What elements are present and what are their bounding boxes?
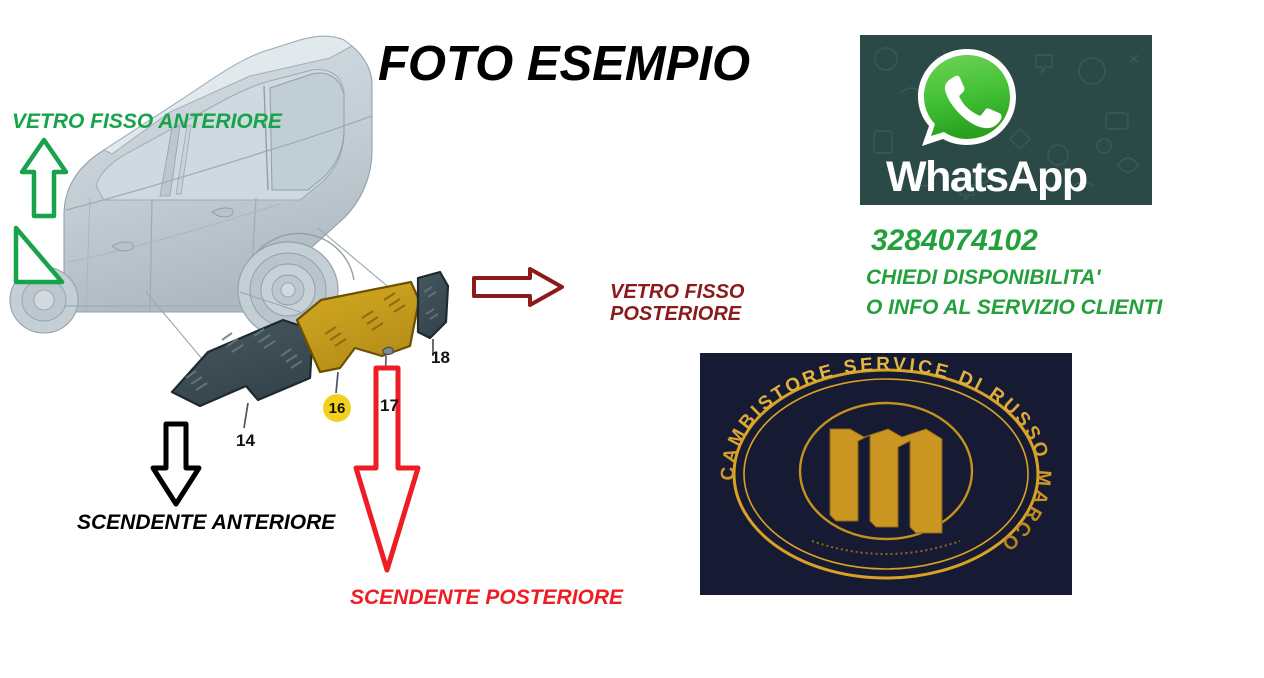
down-arrow-black-icon <box>153 424 199 504</box>
screenshot-canvas: 14 17 18 16 FOTO ESEMPIO VETRO FISSO ANT… <box>0 0 1264 678</box>
whatsapp-phone-number[interactable]: 3284074102 <box>871 224 1038 258</box>
label-scendente-posteriore: SCENDENTE POSTERIORE <box>350 586 623 610</box>
label-vetro-fisso-posteriore-line1: VETRO FISSO <box>610 281 744 303</box>
contact-line-2: O INFO AL SERVIZIO CLIENTI <box>866 296 1162 320</box>
part-number-14: 14 <box>236 431 255 451</box>
part-number-16: 16 <box>329 400 346 417</box>
part-number-18: 18 <box>431 348 450 368</box>
label-vetro-fisso-anteriore: VETRO FISSO ANTERIORE <box>12 110 282 134</box>
shop-logo-plate: MRICAMBISTORE SERVICE DI RUSSO MARCO <box>700 353 1072 595</box>
page-title: FOTO ESEMPIO <box>378 36 750 92</box>
whatsapp-banner: WhatsApp <box>860 35 1152 205</box>
part-number-17: 17 <box>380 396 399 416</box>
triangle-green-icon <box>16 228 62 282</box>
label-scendente-anteriore: SCENDENTE ANTERIORE <box>77 511 335 535</box>
up-arrow-green-icon <box>22 140 66 216</box>
contact-line-1: CHIEDI DISPONIBILITA' <box>866 266 1100 290</box>
right-arrow-darkred-icon <box>474 269 562 305</box>
label-vetro-fisso-posteriore-line2: POSTERIORE <box>610 303 744 325</box>
annotation-arrows <box>0 0 700 640</box>
part-number-16-marker: 16 <box>323 394 351 422</box>
whatsapp-logo-icon <box>912 45 1022 155</box>
whatsapp-wordmark: WhatsApp <box>886 153 1087 202</box>
logo-monogram <box>830 429 942 533</box>
label-vetro-fisso-posteriore: VETRO FISSO POSTERIORE <box>610 281 744 326</box>
